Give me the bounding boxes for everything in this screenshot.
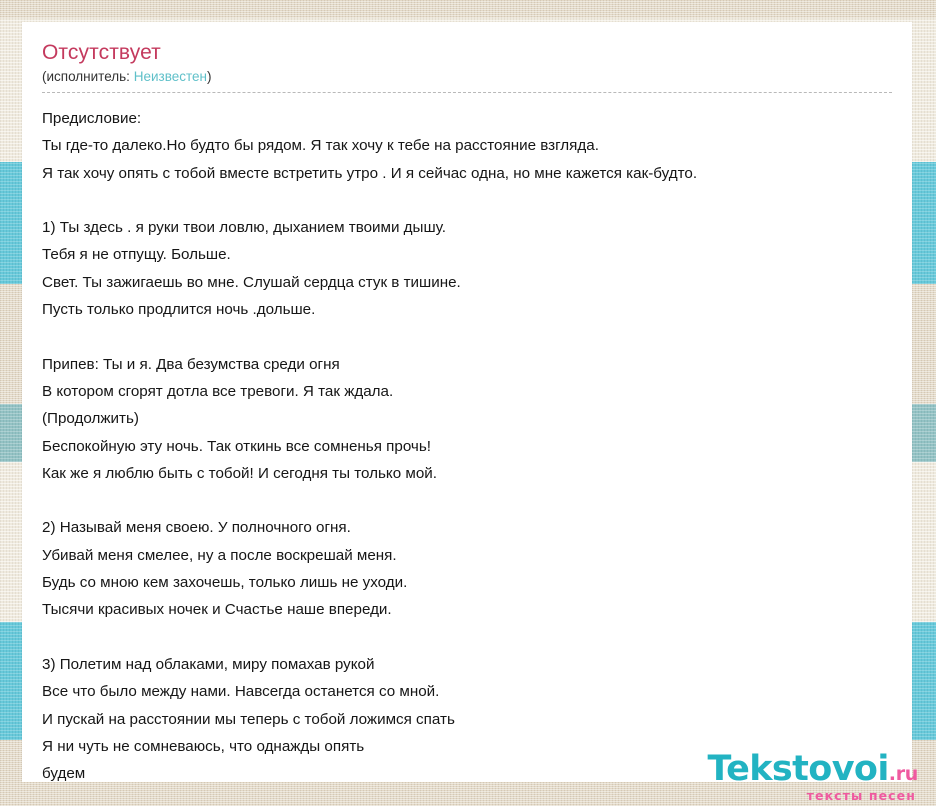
logo-tld: .ru xyxy=(889,765,918,784)
background-stripe-0 xyxy=(0,0,936,18)
artist-label: (исполнитель: xyxy=(42,69,130,84)
lyrics-text: Предисловие: Ты где-то далеко.Но будто б… xyxy=(42,93,936,787)
logo-wordmark: Tekstovoi.ru xyxy=(707,752,918,787)
artist-paren-close: ) xyxy=(207,69,212,84)
artist-line: (исполнитель: Неизвестен) xyxy=(42,68,892,93)
site-logo[interactable]: Tekstovoi.ru тексты песен xyxy=(707,752,918,803)
logo-name: Tekstovoi xyxy=(707,752,888,787)
artist-link[interactable]: Неизвестен xyxy=(134,69,207,84)
logo-tagline: тексты песен xyxy=(707,790,918,803)
page-title: Отсутствует xyxy=(42,40,912,66)
lyrics-card: Отсутствует (исполнитель: Неизвестен) Пр… xyxy=(22,22,912,782)
